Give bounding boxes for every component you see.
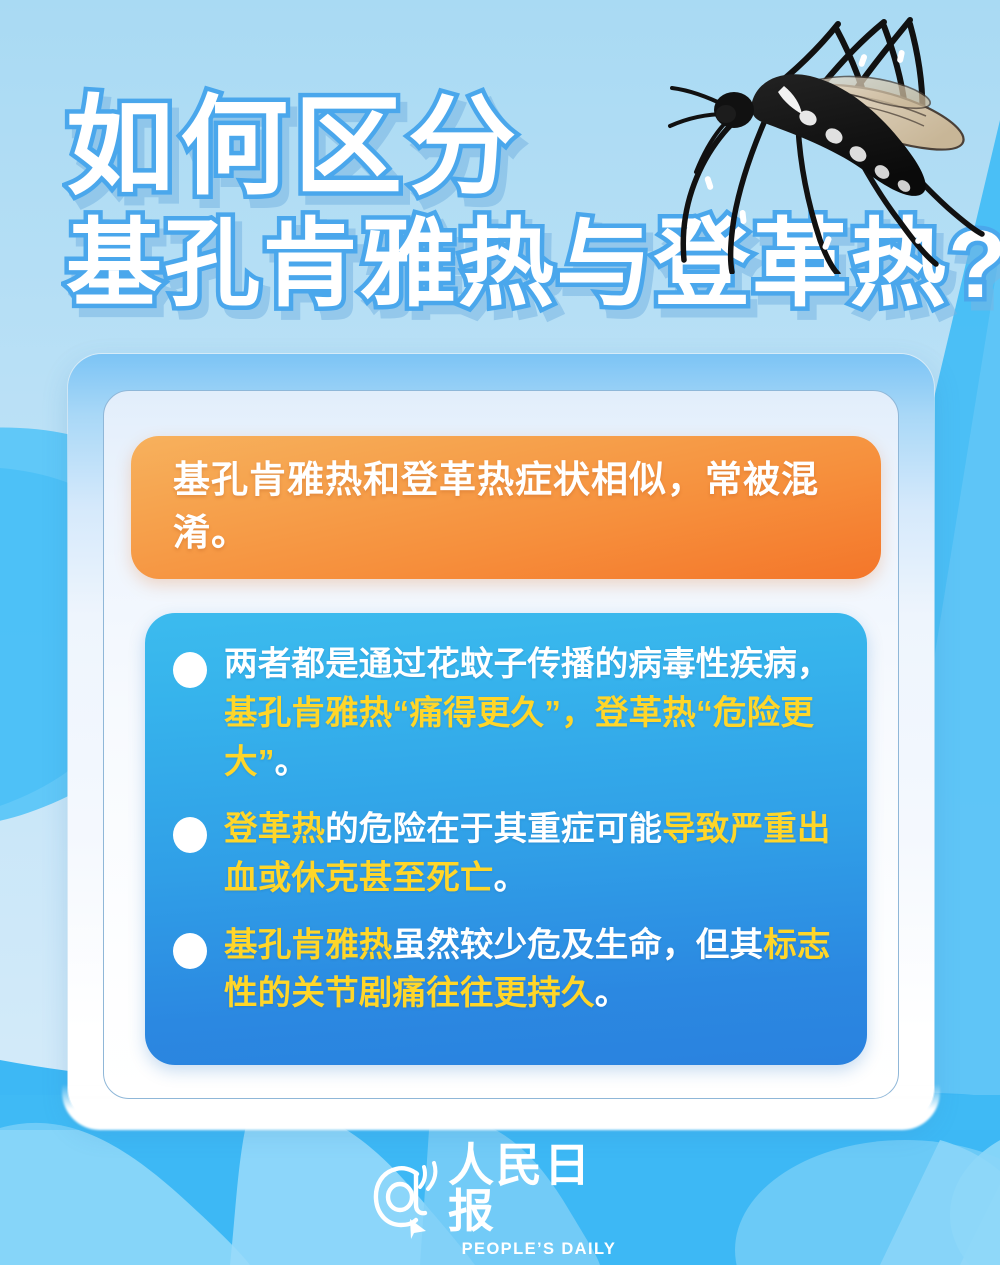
plain-text: 。 <box>595 975 629 1012</box>
bullet-text-3: 基孔肯雅热虽然较少危及生命，但其标志性的关节剧痛往往更持久。 <box>224 922 843 1020</box>
highlighted-text: 基孔肯雅热 <box>224 927 393 964</box>
list-item: 登革热的危险在于其重症可能导致严重出血或休克甚至死亡。 <box>173 806 843 904</box>
plain-text: 两者都是通过花蚊子传播的病毒性疾病， <box>224 646 831 683</box>
plain-text: 的危险在于其重症可能 <box>325 811 662 848</box>
bullet-text-1: 两者都是通过花蚊子传播的病毒性疾病，基孔肯雅热“痛得更久”，登革热“危险更大”。 <box>224 641 843 788</box>
list-item: 基孔肯雅热虽然较少危及生命，但其标志性的关节剧痛往往更持久。 <box>173 922 843 1020</box>
bullet-dot-icon <box>173 933 207 969</box>
summary-banner: 基孔肯雅热和登革热症状相似，常被混淆。 <box>131 436 881 579</box>
plain-text: 。 <box>494 860 528 897</box>
infographic-poster: 如何区分 基孔肯雅热与登革热? 基孔肯雅热和登革热症状相似，常被混淆。 两者都是… <box>0 0 1000 1265</box>
publisher-logo: 人民日报 PEOPLE’S DAILY <box>370 1152 630 1248</box>
publisher-name-cn: 人民日报 <box>448 1142 630 1234</box>
summary-banner-text: 基孔肯雅热和登革热症状相似，常被混淆。 <box>173 454 851 559</box>
at-sign-signal-icon <box>370 1161 444 1239</box>
bullet-dot-icon <box>173 652 207 688</box>
details-box: 两者都是通过花蚊子传播的病毒性疾病，基孔肯雅热“痛得更久”，登革热“危险更大”。… <box>145 613 867 1065</box>
list-item: 两者都是通过花蚊子传播的病毒性疾病，基孔肯雅热“痛得更久”，登革热“危险更大”。 <box>173 641 843 788</box>
plain-text: 虽然较少危及生命，但其 <box>393 927 764 964</box>
publisher-name-en: PEOPLE’S DAILY <box>448 1241 630 1258</box>
highlighted-text: 登革热 <box>224 811 325 848</box>
bullet-text-2: 登革热的危险在于其重症可能导致严重出血或休克甚至死亡。 <box>224 806 843 904</box>
publisher-name-block: 人民日报 PEOPLE’S DAILY <box>448 1142 630 1258</box>
bullet-dot-icon <box>173 817 207 853</box>
highlighted-text: 基孔肯雅热“痛得更久”，登革热“危险更大” <box>224 695 814 781</box>
plain-text: 。 <box>275 744 309 781</box>
mosquito-illustration <box>648 14 998 274</box>
